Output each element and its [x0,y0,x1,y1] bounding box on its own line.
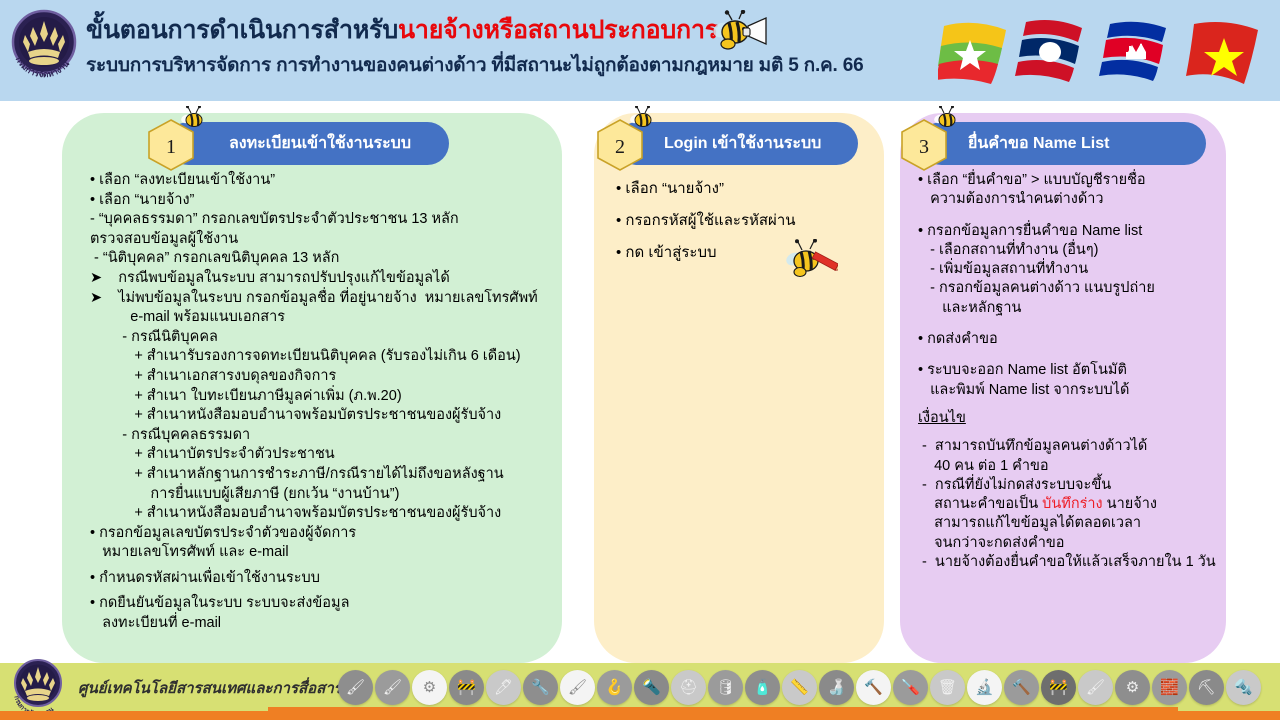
bee-icon [179,106,209,130]
myanmar-flag [938,23,1006,84]
body-line: + สำเนา ใบทะเบียนภาษีมูลค่าเพิ่ม (ภ.พ.20… [90,387,552,407]
microscope-icon: 🔬 [967,670,1002,705]
laos-flag [1015,20,1082,82]
body-line: + สำเนาหนังสือมอบอำนาจพร้อมบัตรประชาชนขอ… [90,406,552,426]
body-line: 40 คน ต่อ 1 คำขอ [918,457,1218,476]
body-line: • กำหนดรหัสผ่านเพื่อเข้าใช้งานระบบ [90,569,552,589]
body-line: ➤ ไม่พบข้อมูลในระบบ กรอกข้อมูลชื่อ ที่อย… [90,289,552,309]
body-line: • เลือก “นายจ้าง” [616,179,866,199]
gear-tools-icon: ⚙ [1115,670,1150,705]
body-line: - สามารถบันทึกข้อมูลคนต่างด้าวได้ [918,437,1218,456]
hammer-icon: 🔨 [1004,670,1039,705]
cambodia-flag [1099,22,1166,81]
page-subtitle: ระบบการบริหารจัดการ การทำงานของคนต่างด้า… [86,55,706,78]
road-barrier-icon: 🚧 [1041,670,1076,705]
body-line: หมายเลขโทรศัพท์ และ e-mail [90,543,552,563]
traffic-cone-icon: 🚧 [449,670,484,705]
pickaxe-icon: ⛏ [1189,670,1224,705]
body-line: - กรณีที่ยังไม่กดส่งระบบจะขึ้น [918,476,1218,495]
body-line: สถานะคำขอเป็น บันทึกร่าง นายจ้าง [918,495,1218,514]
paint-bucket-stack-icon: 🗑 [930,670,965,705]
body-line: + สำเนาหนังสือมอบอำนาจพร้อมบัตรประชาชนขอ… [90,504,552,524]
hard-hat-icon: ⛑ [671,670,706,705]
step-2-header: 2 Login เข้าใช้งานระบบ [616,122,858,165]
conditions-heading: เงื่อนไข [918,409,966,428]
body-line: และพิมพ์ Name list จากระบบได้ [918,381,1218,400]
funnel-icon: 🔩 [1226,670,1261,705]
tool-icon-strip: 🖌🖌⚙🚧🖊🔧🖌🪝🔦⛑🛢🧴📏🍶🔨🪛🗑🔬🔨🚧🖌⚙🧱⛏🔩 [338,667,1238,707]
body-line: และหลักฐาน [918,299,1218,318]
body-line: - เพิ่มข้อมูลสถานที่ทำงาน [918,260,1218,279]
gear-icon: ⚙ [412,670,447,705]
body-line: - กรณีบุคคลธรรมดา [90,426,552,446]
page-header: กรมการจัดหางาน ขั้นตอนการดำเนินการสำหรับ… [0,0,1280,101]
body-line: • กรอกรหัสผู้ใช้และรหัสผ่าน [616,211,866,231]
body-line: • กดส่งคำขอ [918,330,1218,349]
body-line: ความต้องการนำคนต่างด้าว [918,190,1218,209]
step-card-2: 2 Login เข้าใช้งานระบบ • เลือก “นายจ้าง”… [594,113,884,663]
screwdriver-icon: 🪛 [893,670,928,705]
bee-icon [932,106,962,130]
body-line: + สำเนาบัตรประจำตัวประชาชน [90,445,552,465]
flashlight-icon: 🔦 [634,670,669,705]
body-line: • เลือก “ยื่นคำขอ” > แบบบัญชีรายชื่อ [918,171,1218,190]
footer-accent-bar [0,711,1280,720]
body-line: • ระบบจะออก Name list อัตโนมัติ [918,361,1218,380]
body-line: • เลือก “ลงทะเบียนเข้าใช้งาน” [90,171,552,191]
paint-roller-small-icon: 🖌 [375,670,410,705]
page-title-highlight: นายจ้างหรือสถานประกอบการ [398,16,718,44]
body-line: - นายจ้างต้องยื่นคำขอให้แล้วเสร็จภายใน 1… [918,553,1218,572]
department-emblem-icon: กรมการจัดหางาน [10,658,66,716]
header-title-block: ขั้นตอนการดำเนินการสำหรับนายจ้างหรือสถาน… [86,16,706,77]
step-1-header: 1 ลงทะเบียนเข้าใช้งานระบบ [167,122,449,165]
body-line: สามารถแก้ไขข้อมูลได้ตลอดเวลา [918,514,1218,533]
department-emblem-icon: กรมการจัดหางาน [8,8,80,86]
body-line: ➤ กรณีพบข้อมูลในระบบ สามารถปรับปรุงแก้ไข… [90,269,552,289]
body-line: + สำเนาหลักฐานการชำระภาษี/กรณีรายได้ไม่ถ… [90,465,552,485]
body-line: + สำเนารับรองการจดทะเบียนนิติบุคคล (รับร… [90,347,552,367]
body-line: + สำเนาเอกสารงบดุลของกิจการ [90,367,552,387]
paint-roller-icon: 🖌 [1078,670,1113,705]
step-3-header: 3 ยื่นคำขอ Name List [920,122,1206,165]
body-line: จนกว่าจะกดส่งคำขอ [918,534,1218,553]
country-flags-group [938,12,1270,90]
body-line: • กรอกข้อมูลการยื่นคำขอ Name list [918,222,1218,241]
body-line: • เลือก “นายจ้าง” [90,191,552,211]
body-line: การยื่นแบบผู้เสียภาษี (ยกเว้น “งานบ้าน”) [90,485,552,505]
wrench-screwdriver-icon: 🔧 [523,670,558,705]
body-line: • กรอกข้อมูลเลขบัตรประจำตัวของผู้จัดการ [90,524,552,544]
body-line: - กรณีนิติบุคคล [90,328,552,348]
bee-icon [628,106,658,130]
paint-scraper-icon: 🖌 [560,670,595,705]
body-line: ลงทะเบียนที่ e-mail [90,614,552,634]
trowel-icon: 🔨 [856,670,891,705]
step-1-body: • เลือก “ลงทะเบียนเข้าใช้งาน”• เลือก “นา… [90,171,552,634]
vietnam-flag [1186,22,1258,84]
brick-icon: 🧱 [1152,670,1187,705]
paint-can-icon: 🛢 [708,670,743,705]
body-line: - “บุคคลธรรมดา” กรอกเลขบัตรประจำตัวประชา… [90,210,552,230]
thermos-icon: 🍶 [819,670,854,705]
step-2-label: Login เข้าใช้งานระบบ [664,131,821,156]
page-footer: กรมการจัดหางาน ศูนย์เทคโนโลยีสารสนเทศและ… [0,663,1280,711]
spray-can-icon: 🧴 [745,670,780,705]
chisel-icon: 🖊 [486,670,521,705]
sickle-icon: 🪝 [597,670,632,705]
status-highlight: บันทึกร่าง [1042,496,1102,512]
bee-with-megaphone-icon [706,10,776,58]
body-line: ตรวจสอบข้อมูลผู้ใช้งาน [90,230,552,250]
step-1-label: ลงทะเบียนเข้าใช้งานระบบ [229,131,411,156]
content-area: 1 ลงทะเบียนเข้าใช้งานระบบ • เลือก “ลงทะเ… [0,101,1280,663]
body-line: - กรอกข้อมูลคนต่างด้าว แนบรูปถ่าย [918,279,1218,298]
body-line: • กดยืนยันข้อมูลในระบบ ระบบจะส่งข้อมูล [90,594,552,614]
step-card-1: 1 ลงทะเบียนเข้าใช้งานระบบ • เลือก “ลงทะเ… [62,113,562,663]
body-line: - เลือกสถานที่ทำงาน (อื่นๆ) [918,241,1218,260]
paint-brush-icon: 🖌 [338,670,373,705]
page-title: ขั้นตอนการดำเนินการสำหรับนายจ้างหรือสถาน… [86,16,706,46]
tape-measure-icon: 📏 [782,670,817,705]
bee-with-pencil-icon [782,239,838,285]
step-3-label: ยื่นคำขอ Name List [968,131,1109,156]
footer-department-label: ศูนย์เทคโนโลยีสารสนเทศและการสื่อสาร [78,676,342,700]
step-3-body: • เลือก “ยื่นคำขอ” > แบบบัญชีรายชื่อ ควา… [918,171,1218,572]
body-line: e-mail พร้อมแนบเอกสาร [90,308,552,328]
body-line: - “นิติบุคคล” กรอกเลขนิติบุคคล 13 หลัก [90,249,552,269]
step-card-3: 3 ยื่นคำขอ Name List • เลือก “ยื่นคำขอ” … [900,113,1226,663]
